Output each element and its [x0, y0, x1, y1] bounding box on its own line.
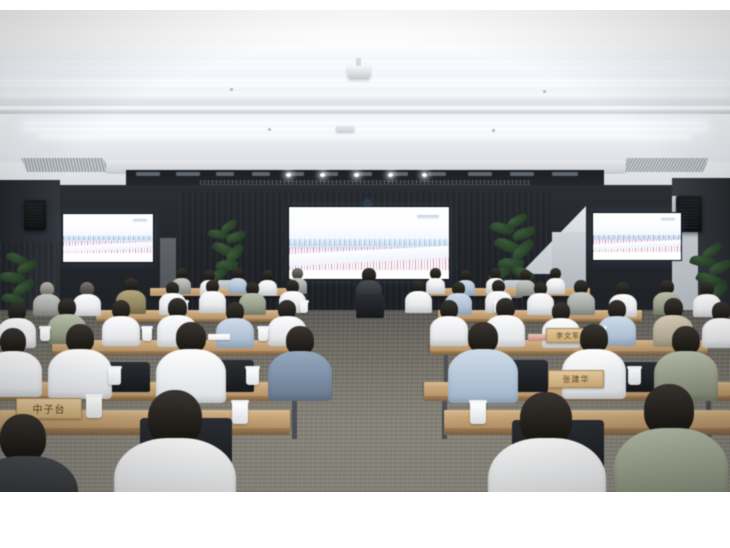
ceiling — [0, 10, 730, 195]
name-placard: 张建华 — [548, 370, 604, 388]
screenshot-canvas: 李文军 张建华 — [0, 0, 730, 548]
tea-mug — [258, 328, 268, 341]
conference-room-photo: 李文军 张建华 — [0, 10, 730, 492]
tea-mug — [86, 396, 102, 418]
ceiling-light-strip-5 — [24, 123, 706, 129]
projector-icon — [348, 65, 370, 78]
tea-mug — [40, 328, 50, 341]
tea-mug — [300, 302, 308, 313]
ceiling-vent-left — [21, 158, 109, 172]
tea-mug — [628, 368, 641, 385]
right-auxiliary-monitor[interactable] — [592, 212, 682, 261]
ceiling-light-strip-6 — [40, 135, 690, 138]
left-wall-speaker — [24, 200, 46, 230]
sprinkler-icon — [543, 90, 546, 93]
tea-mug — [470, 402, 486, 424]
sprinkler-icon — [268, 128, 271, 131]
right-monitor-content — [593, 213, 681, 260]
screen-watermark — [417, 215, 439, 219]
tea-mug — [232, 402, 248, 424]
ceiling-light-strip-4 — [0, 93, 730, 96]
tea-mug — [142, 328, 152, 341]
ceiling-vent-right — [621, 158, 709, 172]
tea-mug — [108, 368, 121, 385]
tea-mug — [246, 368, 259, 385]
left-monitor-content — [63, 214, 153, 262]
ceiling-light-strip-3 — [0, 80, 730, 85]
left-auxiliary-monitor[interactable] — [62, 213, 154, 263]
video-camera-icon — [365, 201, 370, 206]
sprinkler-icon — [230, 88, 233, 91]
document-stack — [208, 334, 230, 340]
sprinkler-icon — [492, 129, 495, 132]
front-centre-chair — [356, 294, 384, 318]
